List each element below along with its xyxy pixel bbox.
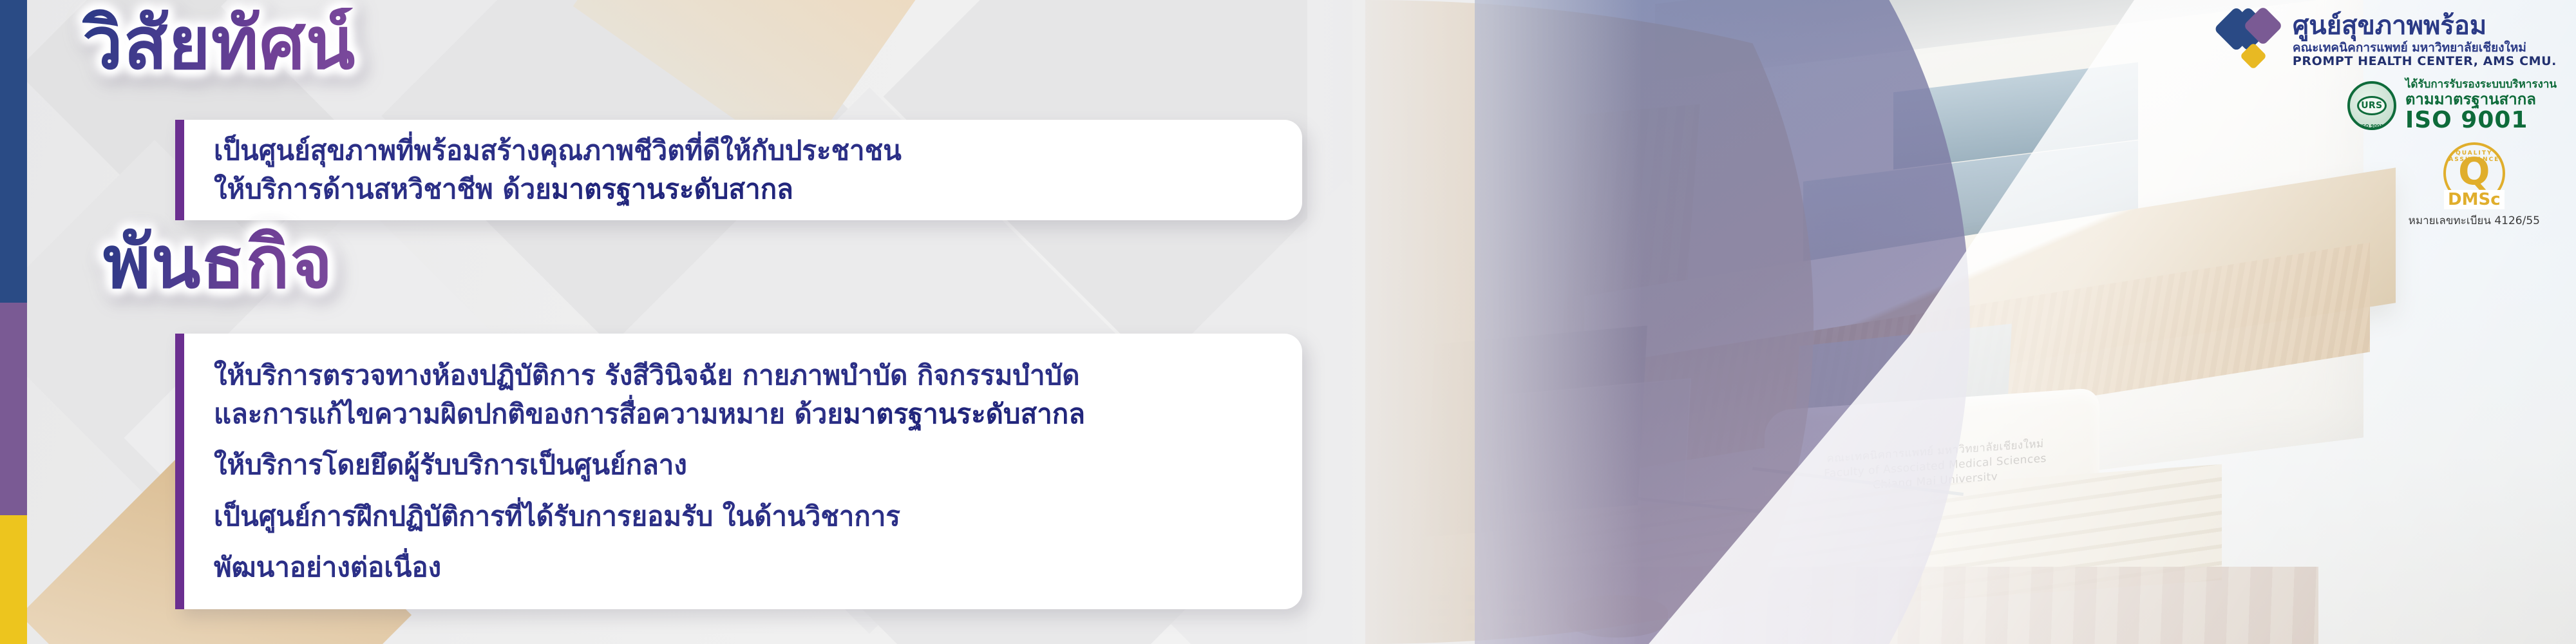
- mission-item-3-line-1: เป็นศูนย์การฝึกปฏิบัติการที่ได้รับการยอม…: [214, 497, 1276, 536]
- vision-line-1: เป็นศูนย์สุขภาพที่พร้อมสร้างคุณภาพชีวิตท…: [214, 131, 1276, 170]
- content-area: วิสัยทัศน์ เป็นศูนย์สุขภาพที่พร้อมสร้างค…: [0, 0, 1546, 644]
- brand-name-th: ศูนย์สุขภาพพร้อม: [2293, 13, 2557, 39]
- mission-item-1-line-1: ให้บริการตรวจทางห้องปฏิบัติการ รังสีวินิ…: [214, 356, 1276, 395]
- iso-text-block: ได้รับการรับรองระบบบริหารงาน ตามมาตรฐานส…: [2405, 79, 2557, 133]
- brand-text-block: ศูนย์สุขภาพพร้อม คณะเทคนิคการแพทย์ มหาวิ…: [2293, 13, 2557, 68]
- brand-name-en: PROMPT HEALTH CENTER, AMS CMU.: [2293, 55, 2557, 68]
- urs-seal-label: URS: [2357, 96, 2387, 115]
- vision-heading: วิสัยทัศน์: [82, 8, 355, 80]
- vision-panel-accent-bar: [175, 120, 184, 220]
- iso-line-2: ตามมาตรฐานสากล: [2405, 91, 2536, 108]
- mission-item-1-line-2-bold: มาตรฐานระดับสากล: [843, 398, 1085, 430]
- mission-item: พัฒนาอย่างต่อเนื่อง: [214, 548, 1276, 587]
- iso-line-1: ได้รับการรับรองระบบบริหารงาน: [2405, 79, 2557, 91]
- dmsc-quality-assurance-mark: QUALITY ASSURANCE Q DMSc หมายเลขทะเบียน …: [2409, 142, 2540, 229]
- mission-item-1-line-2-text: และการแก้ไขความผิดปกติของการสื่อความหมาย…: [214, 398, 843, 430]
- mission-panel-accent-bar: [175, 334, 184, 609]
- q-seal-arc-text: QUALITY ASSURANCE: [2446, 150, 2503, 163]
- diamond-logo-icon: [2232, 9, 2282, 71]
- vision-line-2-text: ให้บริการด้านสหวิชาชีพ ด้วย: [214, 173, 551, 205]
- vision-panel-body: เป็นศูนย์สุขภาพที่พร้อมสร้างคุณภาพชีวิตท…: [184, 120, 1302, 220]
- iso-9001-certification: URS ISO 9001 ได้รับการรับรองระบบบริหารงา…: [2347, 79, 2557, 133]
- mission-heading: พันธกิจ: [103, 227, 333, 299]
- mission-item: ให้บริการโดยยึดผู้รับบริการเป็นศูนย์กลาง: [214, 446, 1276, 484]
- prompt-health-center-logo: ศูนย์สุขภาพพร้อม คณะเทคนิคการแพทย์ มหาวิ…: [2232, 9, 2557, 71]
- brand-faculty-th: คณะเทคนิคการแพทย์ มหาวิทยาลัยเชียงใหม่: [2293, 42, 2557, 54]
- mission-item-2-line-1: ให้บริการโดยยึดผู้รับบริการเป็นศูนย์กลาง: [214, 446, 1276, 484]
- dmsc-label: DMSc: [2444, 190, 2505, 209]
- mission-panel-body: ให้บริการตรวจทางห้องปฏิบัติการ รังสีวินิ…: [184, 334, 1302, 609]
- mission-item: เป็นศูนย์การฝึกปฏิบัติการที่ได้รับการยอม…: [214, 497, 1276, 536]
- mission-item-1-line-2: และการแก้ไขความผิดปกติของการสื่อความหมาย…: [214, 395, 1276, 433]
- mission-item-4-line-1: พัฒนาอย่างต่อเนื่อง: [214, 548, 1276, 587]
- mission-item: ให้บริการตรวจทางห้องปฏิบัติการ รังสีวินิ…: [214, 356, 1276, 433]
- vision-line-2: ให้บริการด้านสหวิชาชีพ ด้วยมาตรฐานระดับส…: [214, 170, 1276, 209]
- registration-number: หมายเลขทะเบียน 4126/55: [2409, 212, 2540, 229]
- mission-panel: ให้บริการตรวจทางห้องปฏิบัติการ รังสีวินิ…: [175, 334, 1302, 609]
- iso-line-3: ISO 9001: [2405, 108, 2528, 133]
- vision-mission-banner: คณะเทคนิคการแพทย์ มหาวิทยาลัยเชียงใหม่ F…: [0, 0, 2576, 644]
- urs-seal-icon: URS ISO 9001: [2347, 81, 2396, 130]
- vision-panel: เป็นศูนย์สุขภาพที่พร้อมสร้างคุณภาพชีวิตท…: [175, 120, 1302, 220]
- urs-seal-ring-text: ISO 9001: [2350, 124, 2394, 129]
- vision-line-2-bold: มาตรฐานระดับสากล: [551, 173, 793, 205]
- brand-certification-stack: ศูนย์สุขภาพพร้อม คณะเทคนิคการแพทย์ มหาวิ…: [2145, 9, 2557, 229]
